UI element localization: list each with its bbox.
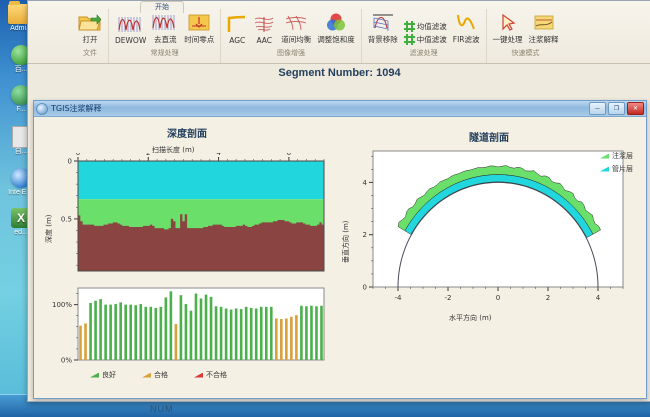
ribbon-button-mean-filter[interactable]: 均值滤波	[404, 21, 447, 32]
svg-text:-4: -4	[395, 294, 403, 302]
ribbon-button-open[interactable]: 打开	[78, 11, 102, 45]
desktop-icon-label: 百...	[15, 66, 28, 73]
legend-label: 注浆层	[612, 151, 633, 161]
legend-swatch-icon	[600, 154, 609, 159]
grid-green-icon	[404, 21, 415, 32]
ribbon-group-label: 快速模式	[493, 48, 559, 58]
svg-text:0.5: 0.5	[61, 215, 72, 223]
ribbon-button-trace-equalize[interactable]: 道间均衡	[281, 11, 311, 45]
chart-title: 隧道剖面	[339, 129, 639, 144]
page-title: Segment Number: 1094	[28, 67, 650, 79]
legend-item-good: 良好	[90, 370, 116, 380]
svg-text:0: 0	[68, 158, 72, 166]
app-logo-icon	[36, 103, 48, 115]
ribbon-button-median-filter[interactable]: 中值滤波	[404, 34, 447, 45]
close-button[interactable]: ✕	[627, 102, 644, 115]
svg-text:4: 4	[363, 179, 368, 187]
legend-swatch-icon	[142, 373, 151, 378]
legend-label: 管片层	[612, 164, 633, 174]
minimize-icon: ─	[595, 106, 599, 112]
tgis-window-body: 深度剖面 扫描长度 (m) 深度 (m) 024600.5 0%100% 良好合…	[34, 117, 646, 398]
maximize-button[interactable]: ❐	[608, 102, 625, 115]
ribbon-button-grout-interpretation[interactable]: 注浆解释	[529, 11, 559, 45]
ribbon-group-label: 文件	[78, 48, 102, 58]
ribbon-toolbar: 开始 打开 文件	[28, 1, 650, 64]
trace-icon	[253, 13, 275, 35]
y-axis-label: 垂直方向 (m)	[341, 220, 351, 263]
svg-text:0: 0	[496, 294, 500, 302]
legend-item-qualified: 合格	[142, 370, 168, 380]
svg-text:0: 0	[363, 284, 367, 292]
depth-profile-chart: 深度剖面 扫描长度 (m) 深度 (m) 024600.5	[42, 123, 332, 283]
ribbon-button-label: 注浆解释	[529, 34, 559, 45]
application-window: 开始 打开 文件	[27, 0, 650, 402]
legend-label: 合格	[154, 370, 168, 380]
numlock-indicator: NUM	[150, 404, 174, 414]
ribbon-button-label: 均值滤波	[417, 21, 447, 32]
curve-icon	[227, 13, 247, 35]
legend-swatch-icon	[600, 167, 609, 172]
ribbon-filter-stack: 均值滤波 中值滤波	[404, 11, 447, 45]
bar-chart-legend: 良好合格不合格	[90, 370, 227, 380]
quality-bar-chart: 0%100% 良好合格不合格	[42, 282, 332, 394]
ribbon-button-label: 背景移除	[368, 34, 398, 45]
ribbon-group-label: 图像增强	[227, 48, 355, 58]
open-folder-icon	[78, 11, 102, 33]
ribbon-button-fir-filter[interactable]: FIR滤波	[453, 11, 480, 45]
ribbon-button-agc[interactable]: AGC	[227, 13, 247, 45]
ribbon-button-adjust-saturation[interactable]: 调整饱和度	[317, 11, 355, 45]
ribbon-button-remove-dc[interactable]: 去直流	[152, 11, 178, 45]
maximize-icon: ❐	[614, 106, 619, 112]
svg-text:6: 6	[287, 153, 292, 157]
minimize-button[interactable]: ─	[589, 102, 606, 115]
desktop-icon-label: ed...	[14, 229, 28, 236]
ribbon-button-label: DEWOW	[115, 36, 146, 45]
equalize-icon	[285, 11, 307, 33]
layers-icon	[533, 11, 555, 33]
legend-swatch-icon	[90, 373, 99, 378]
tunnel-profile-plot: -4-2024024	[339, 145, 639, 315]
ribbon-group-quick-mode: 一键处理 注浆解释 快速模式	[487, 9, 565, 63]
svg-text:-2: -2	[445, 294, 452, 302]
legend-swatch-icon	[194, 373, 203, 378]
ribbon-button-time-zero[interactable]: 时间零点	[184, 11, 214, 45]
legend-item-segment-layer: 管片层	[600, 164, 633, 174]
wave-icon	[118, 13, 144, 35]
tgis-window-title: TGIS注浆解释	[51, 103, 589, 114]
ribbon-group-regular-processing: DEWOW 去直流	[109, 9, 221, 63]
tunnel-profile-chart: 隧道剖面 -4-2024024 注浆层管片层 水平方向 (m) 垂直方向 (m)	[339, 123, 639, 323]
ribbon-group-file: 打开 文件	[72, 9, 109, 63]
ribbon-button-label: AAC	[256, 36, 272, 45]
time-zero-icon	[188, 11, 210, 33]
svg-text:0%: 0%	[61, 357, 72, 365]
quality-bar-plot: 0%100%	[42, 282, 332, 372]
ribbon-button-label: 调整饱和度	[317, 34, 355, 45]
grid-green-icon	[404, 34, 415, 45]
legend-label: 不合格	[206, 370, 227, 380]
tunnel-chart-legend: 注浆层管片层	[600, 151, 633, 174]
ribbon-group-label: 滤波处理	[368, 48, 480, 58]
ribbon-button-one-key-process[interactable]: 一键处理	[493, 11, 523, 45]
background-remove-icon	[371, 11, 395, 33]
ribbon-group-label: 常规处理	[115, 48, 214, 58]
legend-item-unqualified: 不合格	[194, 370, 227, 380]
ribbon-button-label: 道间均衡	[281, 34, 311, 45]
svg-text:4: 4	[216, 153, 221, 157]
ribbon-button-label: AGC	[229, 36, 245, 45]
svg-text:2: 2	[146, 153, 150, 157]
ribbon-button-label: 去直流	[154, 34, 177, 45]
wave-icon	[152, 11, 178, 33]
depth-profile-plot: 024600.5	[42, 153, 332, 283]
ribbon-button-dewow[interactable]: DEWOW	[115, 13, 146, 45]
svg-text:100%: 100%	[52, 301, 72, 309]
ribbon-button-label: 中值滤波	[417, 34, 447, 45]
tgis-title-bar[interactable]: TGIS注浆解释 ─ ❐ ✕	[34, 101, 646, 117]
svg-text:0: 0	[76, 153, 80, 157]
ribbon-button-label: 一键处理	[493, 34, 523, 45]
x-axis-label: 水平方向 (m)	[449, 313, 492, 323]
close-icon: ✕	[633, 106, 638, 112]
desktop-icon-label: F...	[16, 106, 25, 113]
ribbon-button-background-removal[interactable]: 背景移除	[368, 11, 398, 45]
legend-item-grout-layer: 注浆层	[600, 151, 633, 161]
cursor-arrow-icon	[498, 11, 518, 33]
fir-curve-icon	[456, 11, 476, 33]
ribbon-group-filter-processing: 背景移除 均值滤波	[362, 9, 487, 63]
svg-text:2: 2	[546, 294, 550, 302]
ribbon-button-aac[interactable]: AAC	[253, 13, 275, 45]
chart-title: 深度剖面	[42, 125, 332, 140]
color-wheel-icon	[325, 11, 347, 33]
ribbon-button-label: 打开	[83, 34, 98, 45]
ribbon-group-image-enhance: AGC	[221, 9, 362, 63]
ribbon-button-label: FIR滤波	[453, 34, 480, 45]
ribbon-button-label: 时间零点	[184, 34, 214, 45]
legend-label: 良好	[102, 370, 116, 380]
svg-text:4: 4	[596, 294, 601, 302]
tgis-window: TGIS注浆解释 ─ ❐ ✕ 深度剖面 扫描长度 (m) 深度 (m) 0246…	[33, 100, 647, 399]
svg-text:2: 2	[363, 231, 367, 239]
desktop-icon-label: 自...	[15, 148, 28, 155]
